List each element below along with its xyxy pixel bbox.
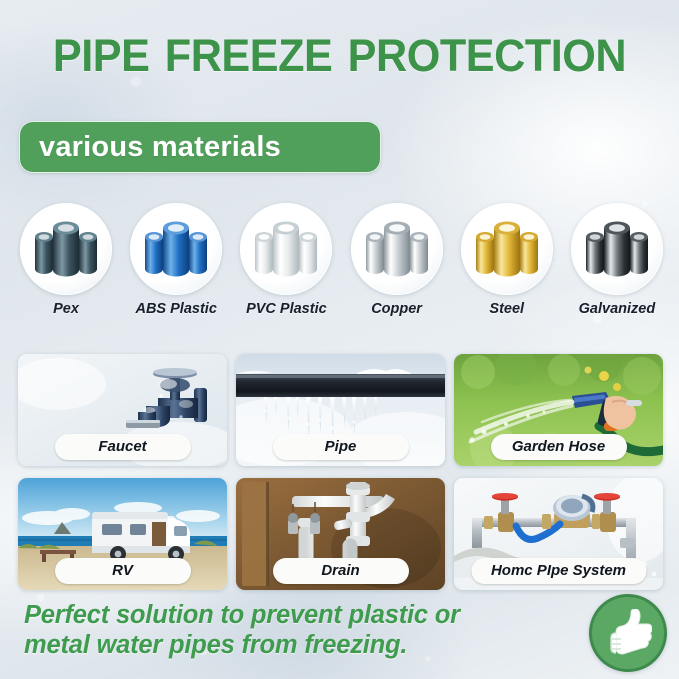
- application-label: RV: [112, 562, 133, 579]
- application-card-pipe[interactable]: Pipe: [236, 354, 445, 466]
- material-item-abs-plastic[interactable]: ABS Plastic: [124, 203, 228, 317]
- material-circle: [20, 203, 112, 295]
- material-label: Copper: [371, 301, 422, 317]
- application-label-chip: Homc PIpe System: [471, 558, 646, 584]
- application-label: Pipe: [325, 438, 357, 455]
- material-item-copper[interactable]: Copper: [345, 203, 449, 317]
- application-card-home-pipe-system[interactable]: Homc PIpe System: [454, 478, 663, 590]
- material-label: PVC Plastic: [246, 301, 327, 317]
- infographic-page: PIPE FREEZE PROTECTION various materials: [0, 0, 679, 679]
- application-label: Drain: [321, 562, 359, 579]
- section-banner-label: various materials: [20, 131, 281, 164]
- material-item-steel[interactable]: Steel: [455, 203, 559, 317]
- page-title: PIPE FREEZE PROTECTION: [14, 31, 666, 81]
- material-label: Pex: [53, 301, 79, 317]
- application-label-chip: Drain: [273, 558, 409, 584]
- material-item-pex[interactable]: Pex: [14, 203, 118, 317]
- application-label-chip: Garden Hose: [491, 434, 627, 460]
- material-item-galvanized[interactable]: Galvanized: [565, 203, 669, 317]
- application-card-garden-hose[interactable]: Garden Hose: [454, 354, 663, 466]
- pipe-cluster-icon: [139, 217, 213, 281]
- application-label: Faucet: [98, 438, 146, 455]
- applications-row-1: Faucet: [18, 354, 663, 466]
- pipe-cluster-icon: [470, 217, 544, 281]
- footer-tagline: Perfect solution to prevent plastic or m…: [24, 600, 584, 660]
- footer-tagline-line-2: metal water pipes from freezing.: [24, 630, 584, 660]
- material-circle: [351, 203, 443, 295]
- material-circle: [130, 203, 222, 295]
- pipe-cluster-icon: [580, 217, 654, 281]
- applications-row-2: RV: [18, 478, 663, 590]
- pipe-cluster-icon: [249, 217, 323, 281]
- materials-row: Pex: [14, 203, 669, 333]
- application-label: Homc PIpe System: [491, 562, 626, 579]
- thumbs-up-badge: [589, 594, 667, 672]
- material-label: ABS Plastic: [135, 301, 216, 317]
- application-card-drain[interactable]: Drain: [236, 478, 445, 590]
- material-label: Galvanized: [579, 301, 656, 317]
- application-card-rv[interactable]: RV: [18, 478, 227, 590]
- footer-tagline-line-1: Perfect solution to prevent plastic or: [24, 600, 584, 630]
- application-label-chip: Pipe: [273, 434, 409, 460]
- section-banner-various-materials: various materials: [19, 121, 381, 173]
- application-label-chip: RV: [55, 558, 191, 584]
- application-label-chip: Faucet: [55, 434, 191, 460]
- application-card-faucet[interactable]: Faucet: [18, 354, 227, 466]
- pipe-cluster-icon: [360, 217, 434, 281]
- material-item-pvc-plastic[interactable]: PVC Plastic: [234, 203, 338, 317]
- application-label: Garden Hose: [512, 438, 605, 455]
- material-circle: [240, 203, 332, 295]
- material-label: Steel: [489, 301, 524, 317]
- material-circle: [461, 203, 553, 295]
- material-circle: [571, 203, 663, 295]
- thumbs-up-icon: [604, 609, 652, 657]
- pipe-cluster-icon: [29, 217, 103, 281]
